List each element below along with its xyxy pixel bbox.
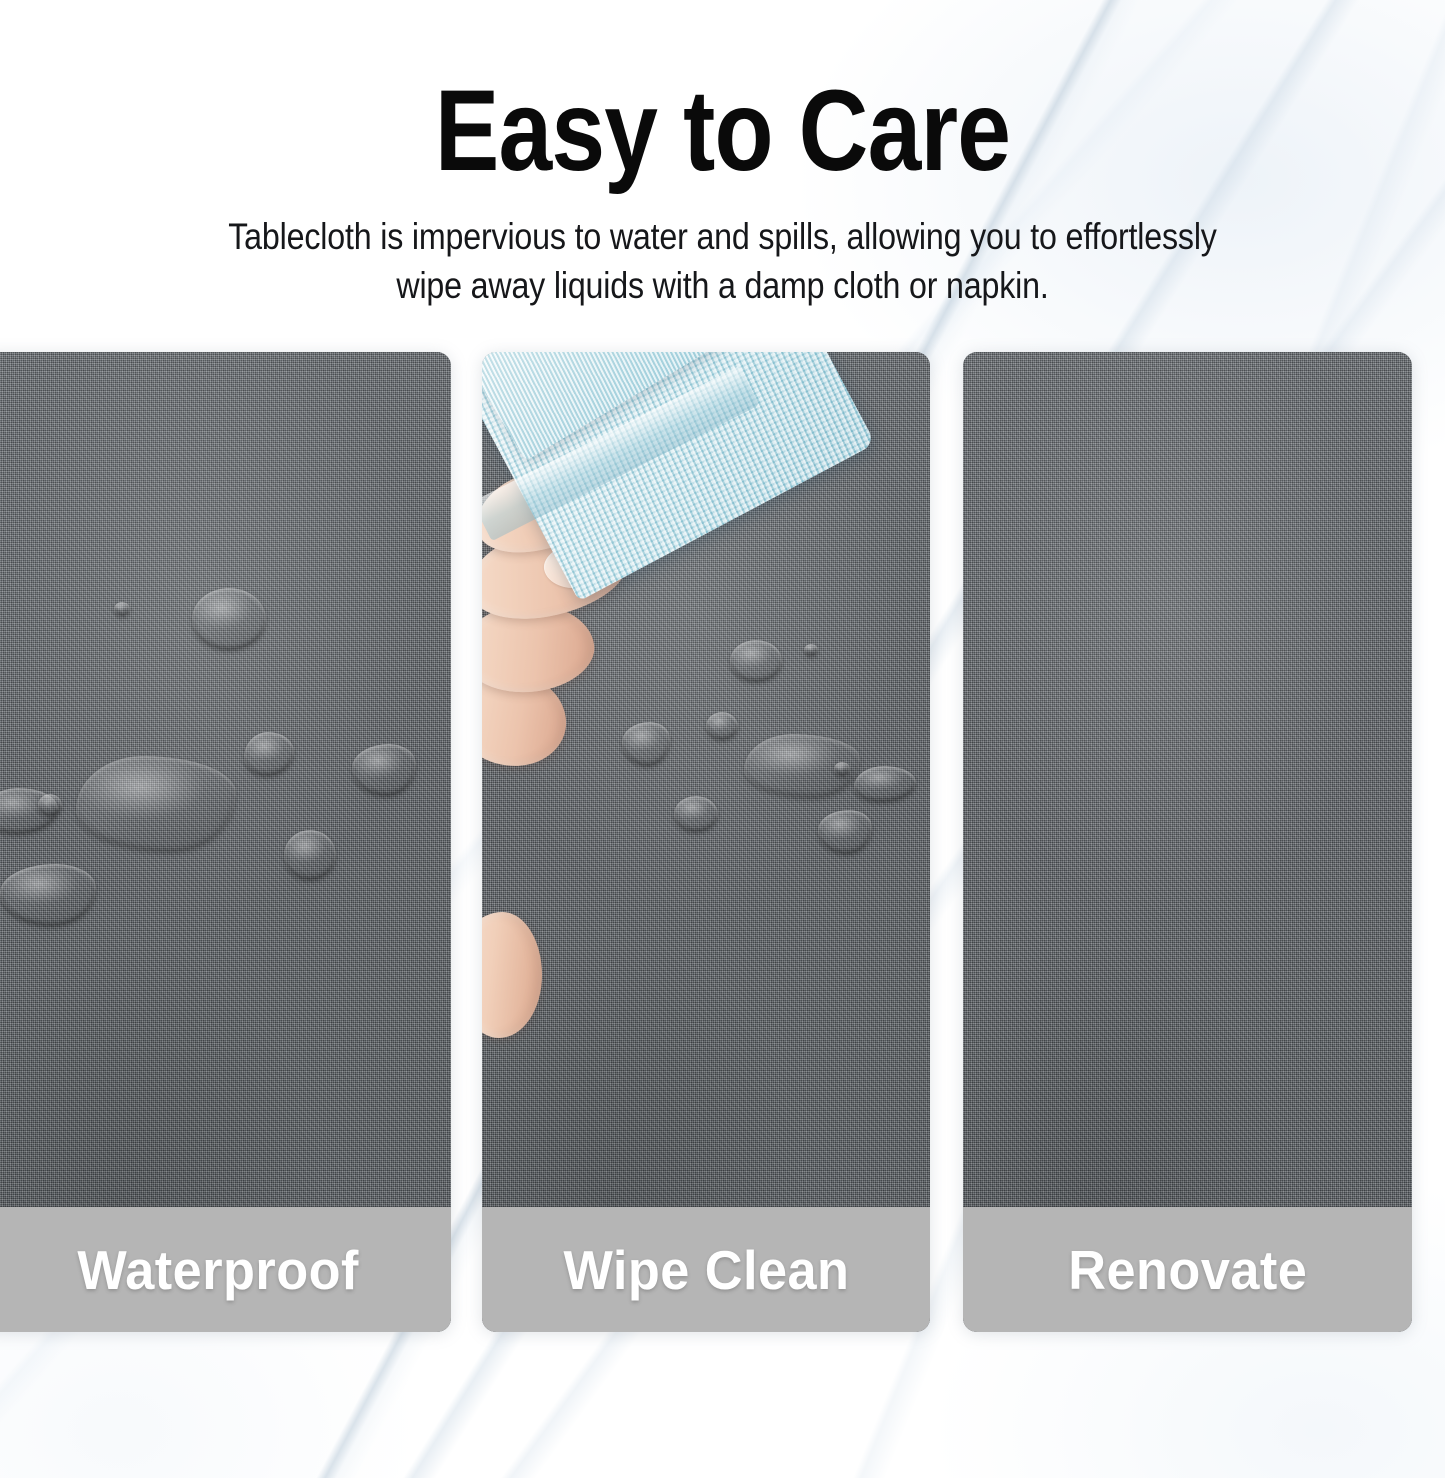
grey-fabric-texture [0, 352, 451, 1332]
hand-with-cloth [482, 352, 930, 1332]
thumb [482, 912, 542, 1038]
caption-bar-waterproof: Waterproof [0, 1207, 451, 1332]
page-title: Easy to Care [116, 0, 1330, 189]
water-droplet [284, 830, 336, 880]
subtitle-line-2: wipe away liquids with a damp cloth or n… [94, 262, 1351, 311]
panel-label: Renovate [1068, 1238, 1307, 1302]
feature-panel-waterproof[interactable]: Waterproof [0, 352, 451, 1332]
caption-bar-renovate: Renovate [963, 1207, 1412, 1332]
subtitle-line-1: Tablecloth is impervious to water and sp… [94, 213, 1351, 262]
water-droplet [38, 794, 62, 816]
grey-fabric-texture [963, 352, 1412, 1332]
panel-label: Wipe Clean [563, 1238, 849, 1302]
panel-label: Waterproof [78, 1238, 359, 1302]
feature-panel-renovate[interactable]: Renovate [963, 352, 1412, 1332]
feature-panel-wipe-clean[interactable]: Wipe Clean [482, 352, 930, 1332]
water-droplet [114, 602, 130, 616]
caption-bar-wipe-clean: Wipe Clean [482, 1207, 930, 1332]
page-subtitle: Tablecloth is impervious to water and sp… [94, 189, 1351, 311]
header: Easy to Care Tablecloth is impervious to… [0, 0, 1445, 311]
water-puddle [76, 756, 236, 852]
water-droplet [192, 588, 266, 650]
feature-panel-row: Waterproof Wipe Clean [0, 352, 1445, 1332]
